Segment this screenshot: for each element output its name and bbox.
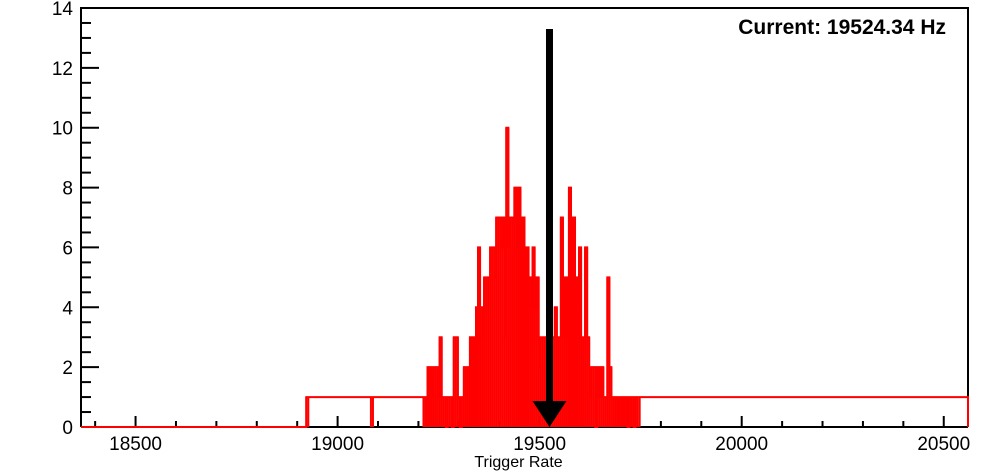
y-tick-label: 12 [52,59,73,80]
x-tick-label: 19000 [311,434,364,455]
y-tick-label: 6 [62,238,73,259]
x-axis-title: Trigger Rate [474,454,562,471]
y-tick-label: 10 [52,119,73,140]
y-tick-label: 14 [52,0,74,20]
x-tick-label: 18500 [109,434,162,455]
y-tick-label: 0 [62,418,73,439]
y-tick-label: 4 [62,298,73,319]
histogram-series [81,128,968,427]
y-axis: 02468101214 [52,0,99,439]
x-tick-label: 20000 [715,434,768,455]
current-rate-annotation: Current: 19524.34 Hz [738,16,946,39]
trigger-rate-histogram-panel: 1850019000195002000020500Trigger Rate024… [0,0,996,472]
y-tick-label: 2 [62,358,73,379]
trigger-rate-histogram-chart: 1850019000195002000020500Trigger Rate024… [0,0,996,472]
x-tick-label: 20500 [917,434,970,455]
x-tick-label: 19500 [513,434,566,455]
y-tick-label: 8 [62,179,73,200]
